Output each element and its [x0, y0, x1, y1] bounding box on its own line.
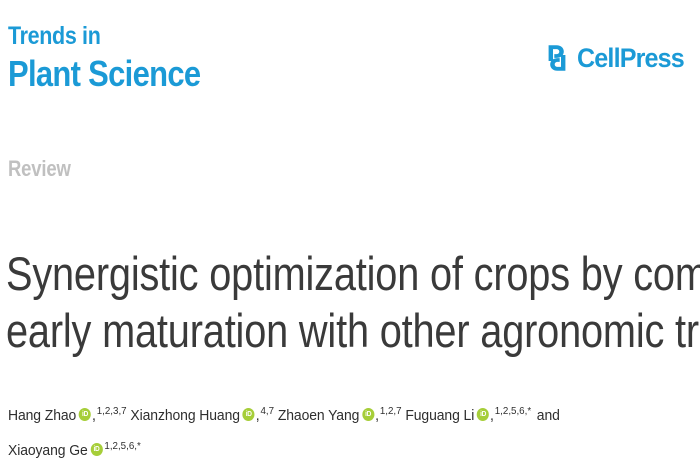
author-entry[interactable]: Xianzhong Huang,4,7 [130, 407, 277, 424]
journal-masthead[interactable]: Trends in Plant Science [8, 24, 232, 92]
cellpress-mark-icon [544, 44, 570, 72]
title-line-1: Synergistic optimization of crops by com… [6, 245, 598, 302]
author-name: Fuguang Li [405, 407, 474, 424]
publisher-name: CellPress [577, 45, 684, 72]
author-entry[interactable]: Xiaoyang Ge1,2,5,6,* [8, 442, 141, 459]
author-name: Xiaoyang Ge [8, 442, 88, 459]
article-type-label: Review [8, 158, 71, 180]
journal-title-line2: Plant Science [8, 56, 200, 92]
author-conjunction: and [537, 407, 560, 424]
journal-title-line1: Trends in [8, 24, 200, 49]
author-entry[interactable]: Fuguang Li,1,2,5,6,* [405, 407, 535, 424]
page-title: Synergistic optimization of crops by com… [6, 245, 598, 359]
author-separator: , [256, 407, 260, 424]
author-separator: , [92, 407, 96, 424]
author-separator: , [490, 407, 494, 424]
title-line-2: early maturation with other agronomic tr… [6, 302, 598, 359]
author-separator: , [375, 407, 379, 424]
orcid-id-icon[interactable] [362, 408, 374, 421]
author-affiliations: 1,2,5,6,* [104, 440, 140, 452]
orcid-id-icon[interactable] [79, 408, 91, 421]
author-list: Hang Zhao,1,2,3,7 Xianzhong Huang,4,7 Zh… [8, 396, 653, 466]
author-affiliations: 1,2,3,7 [97, 405, 127, 417]
author-entry[interactable]: Zhaoen Yang,1,2,7 [278, 407, 406, 424]
publisher-logo[interactable]: CellPress [544, 44, 692, 72]
orcid-id-icon[interactable] [243, 408, 255, 421]
article-header-page: Trends in Plant Science CellPress Review… [0, 0, 700, 467]
orcid-id-icon[interactable] [477, 408, 489, 421]
author-affiliations: 1,2,5,6,* [495, 405, 531, 417]
author-entry[interactable]: Hang Zhao,1,2,3,7 [8, 407, 130, 424]
author-affiliations: 1,2,7 [380, 405, 402, 417]
orcid-id-icon[interactable] [90, 443, 102, 456]
author-affiliations: 4,7 [260, 405, 274, 417]
author-name: Xianzhong Huang [130, 407, 240, 424]
author-name: Hang Zhao [8, 407, 76, 424]
author-name: Zhaoen Yang [278, 407, 359, 424]
